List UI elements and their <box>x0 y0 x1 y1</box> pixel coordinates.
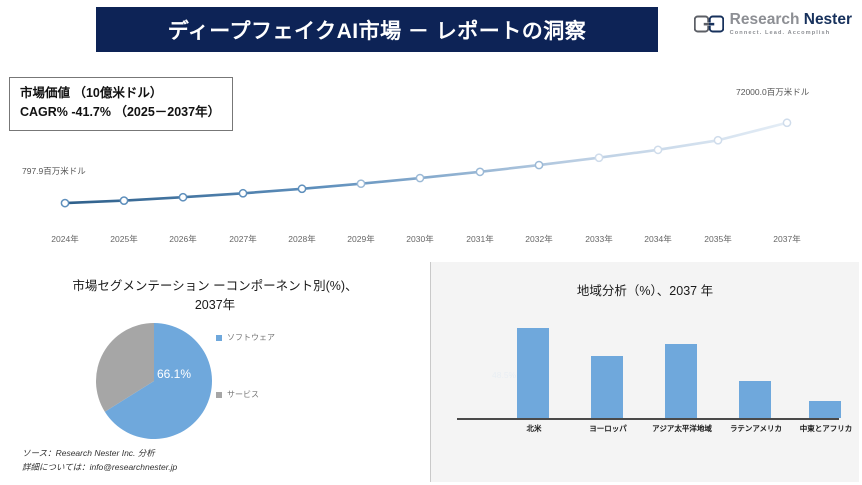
bottom-charts-row: 市場セグメンテーション ーコンポーネント別(%)、 2037年 66.1% ソフ… <box>0 260 862 485</box>
bar-column[interactable] <box>517 328 549 418</box>
bar-chart-x-axis: 北米ヨーロッパアジア太平洋地域ラテンアメリカ中東とアフリカ <box>431 423 859 441</box>
market-value-info-box: 市場価値 （10億米ドル） CAGR% -41.7% （2025－2037年） <box>9 77 233 131</box>
bar-column[interactable] <box>591 356 623 418</box>
bar-axis-tick: ヨーロッパ <box>589 423 627 434</box>
bar-axis-tick: 北米 <box>527 423 542 434</box>
line-axis-tick: 2032年 <box>525 233 552 245</box>
line-axis-tick: 2030年 <box>406 233 433 245</box>
bar-column[interactable] <box>665 344 697 418</box>
source-note: ソース：Research Nester Inc. 分析 詳細については：info… <box>22 446 177 475</box>
logo-name-second: Nester <box>799 11 852 28</box>
legend-label-services: サービス <box>227 389 259 400</box>
line-axis-tick: 2025年 <box>110 233 137 245</box>
line-axis-tick: 2035年 <box>704 233 731 245</box>
legend-swatch-icon-software <box>216 335 222 341</box>
regional-analysis-panel: 地域分析（%）、2037 年 48.5% 北米ヨーロッパアジア太平洋地域ラテンア… <box>430 262 859 482</box>
page-title: ディープフェイクAI市場 － レポートの洞察 <box>168 15 587 45</box>
contact-line: 詳細については：info@researchnester.jp <box>22 460 177 474</box>
line-data-point <box>654 146 661 153</box>
line-axis-tick: 2034年 <box>644 233 671 245</box>
page-header: ディープフェイクAI市場 － レポートの洞察 Research Nester C… <box>0 0 862 58</box>
line-data-point <box>179 194 186 201</box>
segmentation-pie-panel: 市場セグメンテーション ーコンポーネント別(%)、 2037年 66.1% ソフ… <box>0 260 428 485</box>
bar-chart-baseline <box>457 418 839 420</box>
logo-text-block: Research Nester Connect. Lead. Accomplis… <box>730 12 852 36</box>
bar-axis-tick: 中東とアフリカ <box>800 423 853 434</box>
line-axis-tick: 2024年 <box>51 233 78 245</box>
pie-chart-title: 市場セグメンテーション ーコンポーネント別(%)、 2037年 <box>40 277 390 316</box>
legend-label-software: ソフトウェア <box>227 332 275 343</box>
line-data-point <box>239 190 246 197</box>
line-axis-tick: 2031年 <box>466 233 493 245</box>
legend-item-software[interactable]: ソフトウェア <box>216 332 275 343</box>
legend-item-services[interactable]: サービス <box>216 389 275 400</box>
line-data-point <box>416 174 423 181</box>
bar-chart-bars: 48.5% <box>459 310 837 418</box>
line-axis-tick: 2028年 <box>288 233 315 245</box>
bar-axis-tick: アジア太平洋地域 <box>652 423 712 434</box>
pie-slice-value-label: 66.1% <box>157 367 191 381</box>
line-axis-tick: 2029年 <box>347 233 374 245</box>
pie-title-line2: 2037年 <box>40 296 390 315</box>
bar-column[interactable] <box>739 381 771 418</box>
logo-name-first: Research <box>730 11 800 28</box>
info-box-cagr: CAGR% -41.7% （2025－2037年） <box>20 103 220 122</box>
info-box-market-value: 市場価値 （10億米ドル） <box>20 84 220 103</box>
line-data-point <box>783 119 790 126</box>
line-axis-tick: 2026年 <box>169 233 196 245</box>
brand-logo: Research Nester Connect. Lead. Accomplis… <box>694 12 852 36</box>
pie-svg <box>95 322 213 440</box>
pie-legend: ソフトウェア サービス <box>216 332 275 400</box>
line-chart-x-axis: 2024年2025年2026年2027年2028年2029年2030年2031年… <box>0 233 862 253</box>
market-value-line-chart: 市場価値 （10億米ドル） CAGR% -41.7% （2025－2037年） … <box>0 58 862 260</box>
bar-chart-title: 地域分析（%）、2037 年 <box>431 280 859 299</box>
logo-tagline: Connect. Lead. Accomplish <box>730 31 852 37</box>
line-data-point <box>714 137 721 144</box>
bar-column[interactable] <box>809 401 841 418</box>
line-data-point <box>476 168 483 175</box>
source-line: ソース：Research Nester Inc. 分析 <box>22 446 177 460</box>
line-data-point <box>120 197 127 204</box>
line-axis-tick: 2027年 <box>229 233 256 245</box>
line-data-point <box>298 185 305 192</box>
logo-wordmark: Research Nester <box>730 12 852 28</box>
pie-title-line1: 市場セグメンテーション ーコンポーネント別(%)、 <box>40 277 390 296</box>
line-data-point <box>535 161 542 168</box>
line-data-point <box>357 180 364 187</box>
bar-axis-tick: ラテンアメリカ <box>730 423 782 434</box>
line-data-point <box>595 154 602 161</box>
legend-swatch-icon-services <box>216 392 222 398</box>
line-axis-tick: 2033年 <box>585 233 612 245</box>
research-nester-logo-icon <box>694 13 724 35</box>
bar-value-label-north-america: 48.5% <box>492 370 516 380</box>
line-data-point <box>61 199 68 206</box>
line-axis-tick: 2037年 <box>773 233 800 245</box>
title-band: ディープフェイクAI市場 － レポートの洞察 <box>96 7 658 52</box>
pie-chart-graphic: 66.1% <box>95 322 213 440</box>
